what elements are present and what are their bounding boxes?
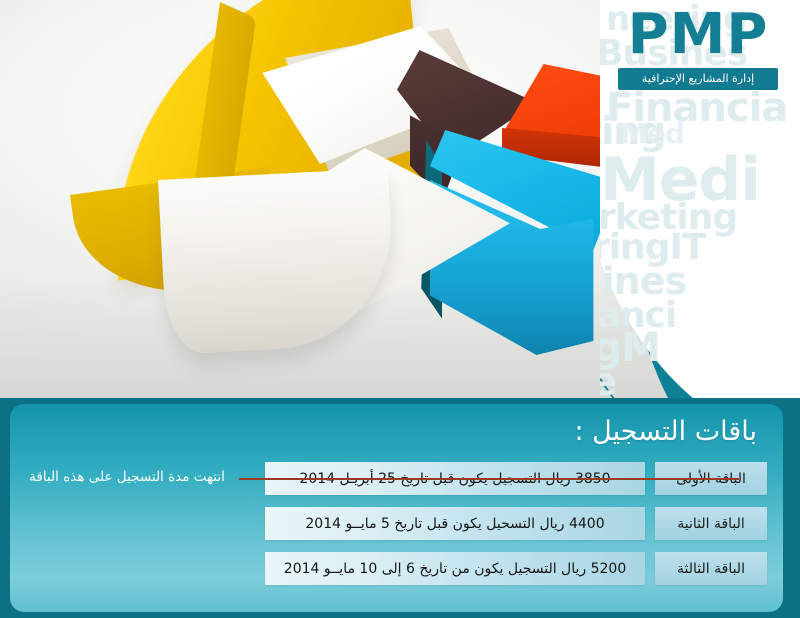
pmp-logo: PMP إدارة المشاريع الإحترافية <box>618 6 778 90</box>
package-label: الباقة الثالثة <box>655 552 767 585</box>
table-row[interactable]: الباقة الثالثة 5200 ريال التسجيل يكون من… <box>22 552 767 589</box>
pie-chart-photo <box>30 0 680 390</box>
expired-note: انتهت مدة التسجيل على هذه الباقة <box>27 469 227 485</box>
packages-inner-panel: باقات التسجيل : الباقة الأولى 3850 ريال … <box>10 404 783 612</box>
package-description: 4400 ريال التسحيل يكون قبل تاريخ 5 مايــ… <box>265 507 645 540</box>
slide-root: neering Busines Financia ting Med Medi r… <box>0 0 800 618</box>
package-description: 5200 ريال التسجيل يكون من تاريخ 6 إلى 10… <box>265 552 645 585</box>
packages-panel: باقات التسجيل : الباقة الأولى 3850 ريال … <box>0 398 800 618</box>
table-row[interactable]: الباقة الأولى 3850 ريال التسجيل يكون قبل… <box>22 462 767 499</box>
packages-title: باقات التسجيل : <box>574 416 757 447</box>
packages-table: الباقة الأولى 3850 ريال التسجيل يكون قبل… <box>22 462 767 597</box>
package-label: الباقة الثانية <box>655 507 767 540</box>
logo-subtitle: إدارة المشاريع الإحترافية <box>618 68 778 90</box>
strikethrough-line <box>239 478 739 480</box>
logo-title: PMP <box>618 6 778 65</box>
table-row[interactable]: الباقة الثانية 4400 ريال التسحيل يكون قب… <box>22 507 767 544</box>
pie-slice-white-lower-front <box>158 168 397 355</box>
hero-photo-area: neering Busines Financia ting Med Medi r… <box>0 0 800 398</box>
